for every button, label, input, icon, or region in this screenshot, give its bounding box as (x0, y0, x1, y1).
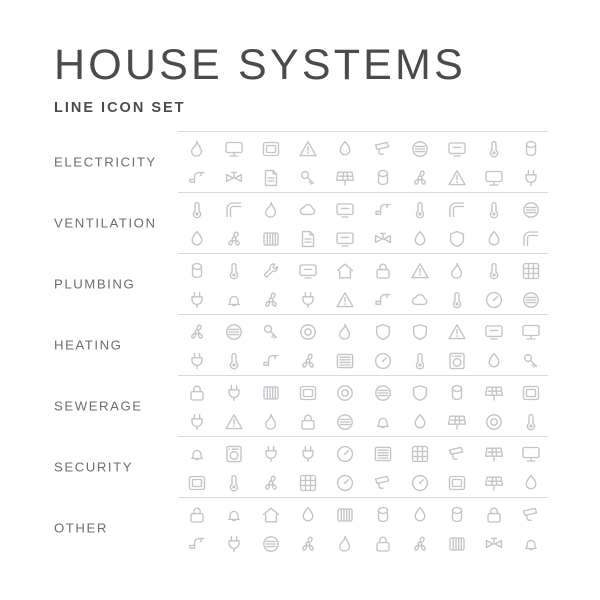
thermostat-dial-icon[interactable] (513, 348, 550, 374)
section-divider (178, 192, 548, 193)
section-security: SECURITY (0, 436, 600, 497)
smart-home-tablet-icon[interactable] (513, 502, 550, 528)
air-diffuser-grille-icon[interactable] (178, 197, 215, 223)
bent-pipe-icon[interactable] (215, 409, 252, 435)
gate-valve-icon[interactable] (401, 380, 438, 406)
fan-blades-icon[interactable] (252, 197, 289, 223)
drain-grate-icon[interactable] (476, 380, 513, 406)
water-heater-icon[interactable] (215, 258, 252, 284)
junction-box-icon[interactable] (252, 165, 289, 191)
turbine-fan-icon[interactable] (215, 226, 252, 252)
p-trap-icon[interactable] (401, 409, 438, 435)
surveillance-camera-icon[interactable] (215, 441, 252, 467)
house-heating-icon[interactable] (476, 348, 513, 374)
split-ac-icon[interactable] (327, 197, 364, 223)
plunger-tools-icon[interactable] (252, 287, 289, 313)
security-document-icon[interactable] (513, 470, 550, 496)
electric-meter-icon[interactable] (290, 136, 327, 162)
home-lock-icon[interactable] (327, 441, 364, 467)
ventilation-motor-icon[interactable] (401, 226, 438, 252)
airflow-arrows-icon[interactable] (476, 226, 513, 252)
axial-fan-icon[interactable] (290, 197, 327, 223)
break-in-alert-icon[interactable] (327, 470, 364, 496)
section-ventilation: VENTILATION (0, 192, 600, 253)
poster-header: HOUSE SYSTEMS LINE ICON SET (54, 44, 466, 116)
electrical-panel-icon[interactable] (215, 165, 252, 191)
inspection-chamber-icon[interactable] (513, 380, 550, 406)
sections-container: ELECTRICITYVENTILATIONPLUMBINGHEATINGSEW… (0, 131, 600, 558)
keypad-lock-icon[interactable] (252, 470, 289, 496)
sump-pump-icon[interactable] (438, 409, 475, 435)
underfloor-heating-icon[interactable] (364, 348, 401, 374)
ac-outdoor-unit-icon[interactable] (290, 226, 327, 252)
location-shield-icon[interactable] (513, 441, 550, 467)
water-pipes-icon[interactable] (178, 287, 215, 313)
battery-storage-icon[interactable] (513, 531, 550, 557)
vacuum-system-icon[interactable] (327, 531, 364, 557)
section-electricity: ELECTRICITY (0, 131, 600, 192)
duct-elbow-icon[interactable] (513, 197, 550, 223)
pump-station-icon[interactable] (438, 380, 475, 406)
drain-outlet-icon[interactable] (178, 380, 215, 406)
category-label-plumbing: PLUMBING (54, 276, 135, 291)
radiator-icon[interactable] (215, 319, 252, 345)
generator-icon[interactable] (401, 165, 438, 191)
manhole-cover-icon[interactable] (327, 380, 364, 406)
house-foundation-icon[interactable] (215, 531, 252, 557)
category-label-security: SECURITY (54, 459, 133, 474)
screwdriver-icon[interactable] (476, 136, 513, 162)
water-filter-icon[interactable] (401, 287, 438, 313)
electrical-toolbox-icon[interactable] (364, 136, 401, 162)
wiring-diagram-icon[interactable] (476, 165, 513, 191)
waste-pipe-icon[interactable] (252, 380, 289, 406)
pipe-coil-icon[interactable] (513, 287, 550, 313)
heat-ring-icon[interactable] (513, 319, 550, 345)
hose-coil-icon[interactable] (290, 258, 327, 284)
section-other: OTHER (0, 497, 600, 558)
section-divider (178, 314, 548, 315)
section-divider (178, 253, 548, 254)
intercom-icon[interactable] (252, 531, 289, 557)
siren-icon[interactable] (215, 470, 252, 496)
wall-boiler-icon[interactable] (252, 319, 289, 345)
ceiling-light-icon[interactable] (215, 136, 252, 162)
alarm-bell-icon[interactable] (438, 441, 475, 467)
pipe-leak-icon[interactable] (513, 258, 550, 284)
tap-water-icon[interactable] (364, 258, 401, 284)
power-plug-icon[interactable] (401, 136, 438, 162)
wall-socket-panel-icon[interactable] (438, 136, 475, 162)
control-box-icon[interactable] (215, 348, 252, 374)
water-pressure-gauge-icon[interactable] (476, 287, 513, 313)
circuit-timer-icon[interactable] (327, 136, 364, 162)
faucet-valve-icon[interactable] (252, 258, 289, 284)
icon-grid (178, 136, 550, 191)
cloud-network-icon[interactable] (476, 502, 513, 528)
section-sewerage: SEWERAGE (0, 375, 600, 436)
range-hood-icon[interactable] (327, 226, 364, 252)
fuse-box-icon[interactable] (513, 136, 550, 162)
thermostat-icon[interactable] (178, 319, 215, 345)
heat-exchanger-icon[interactable] (438, 348, 475, 374)
heating-plan-icon[interactable] (364, 319, 401, 345)
page-subtitle: LINE ICON SET (54, 100, 466, 116)
smart-hub-icon[interactable] (401, 502, 438, 528)
drain-cleaning-icon[interactable] (290, 409, 327, 435)
washing-machine-icon[interactable] (364, 287, 401, 313)
air-filter-cartridge-icon[interactable] (178, 226, 215, 252)
convector-icon[interactable] (290, 348, 327, 374)
garage-door-icon[interactable] (290, 441, 327, 467)
exhaust-hood-icon[interactable] (364, 197, 401, 223)
oil-radiator-icon[interactable] (327, 348, 364, 374)
boiler-unit-icon[interactable] (178, 348, 215, 374)
bathtub-icon[interactable] (327, 258, 364, 284)
siphon-trap-icon[interactable] (327, 409, 364, 435)
towel-radiator-icon[interactable] (476, 258, 513, 284)
alarm-panel-icon[interactable] (178, 441, 215, 467)
wastewater-icon[interactable] (178, 409, 215, 435)
section-plumbing: PLUMBING (0, 253, 600, 314)
expansion-tank-icon[interactable] (290, 319, 327, 345)
window-shutter-icon[interactable] (290, 502, 327, 528)
heat-lamp-icon[interactable] (252, 348, 289, 374)
section-divider (178, 375, 548, 376)
dome-camera-icon[interactable] (252, 441, 289, 467)
three-circle-fan-icon[interactable] (438, 226, 475, 252)
power-strip-icon[interactable] (178, 136, 215, 162)
transformer-grid-icon[interactable] (364, 165, 401, 191)
flame-icon[interactable] (401, 319, 438, 345)
blower-fan-icon[interactable] (476, 197, 513, 223)
motion-sensor-icon[interactable] (364, 441, 401, 467)
sewer-manhole-icon[interactable] (364, 409, 401, 435)
smart-thermostat-icon[interactable] (438, 531, 475, 557)
heating-distributor-icon[interactable] (401, 348, 438, 374)
fuel-pump-icon[interactable] (438, 502, 475, 528)
septic-tank-icon[interactable] (290, 380, 327, 406)
asteroid-sensor-icon[interactable] (290, 531, 327, 557)
duct-grille-icon[interactable] (513, 226, 550, 252)
icon-set-poster: HOUSE SYSTEMS LINE ICON SET ELECTRICITYV… (0, 0, 600, 600)
heat-valve-icon[interactable] (327, 319, 364, 345)
pipe-wrench-icon[interactable] (438, 287, 475, 313)
icon-grid (178, 258, 550, 313)
breaker-unit-icon[interactable] (327, 165, 364, 191)
pest-control-icon[interactable] (215, 502, 252, 528)
wifi-router-icon[interactable] (401, 531, 438, 557)
floor-heater-icon[interactable] (438, 319, 475, 345)
wall-vent-panel-icon[interactable] (438, 197, 475, 223)
icon-grid (178, 319, 550, 374)
sewer-hatch-icon[interactable] (364, 380, 401, 406)
water-pump-icon[interactable] (290, 287, 327, 313)
security-monitor-icon[interactable] (476, 441, 513, 467)
round-vent-icon[interactable] (364, 226, 401, 252)
drain-spiral-icon[interactable] (513, 409, 550, 435)
flexible-hose-icon[interactable] (476, 409, 513, 435)
section-heating: HEATING (0, 314, 600, 375)
electric-hazard-icon[interactable] (438, 165, 475, 191)
burglar-mask-icon[interactable] (401, 470, 438, 496)
window-blinds-vent-icon[interactable] (401, 197, 438, 223)
icon-grid (178, 197, 550, 252)
category-label-heating: HEATING (54, 337, 123, 352)
secure-door-icon[interactable] (401, 441, 438, 467)
section-divider (178, 497, 548, 498)
cloud-drain-icon[interactable] (178, 531, 215, 557)
page-title: HOUSE SYSTEMS (54, 44, 466, 87)
toilet-icon[interactable] (327, 287, 364, 313)
security-guard-icon[interactable] (290, 470, 327, 496)
dimmer-switch-icon[interactable] (290, 165, 327, 191)
washer-dryer-icon[interactable] (364, 502, 401, 528)
keys-icon[interactable] (476, 470, 513, 496)
shower-icon[interactable] (401, 258, 438, 284)
access-control-icon[interactable] (364, 470, 401, 496)
icon-grid (178, 502, 550, 557)
voltage-tester-icon[interactable] (513, 165, 550, 191)
switch-box-icon[interactable] (252, 136, 289, 162)
box-fan-icon[interactable] (252, 226, 289, 252)
category-label-electricity: ELECTRICITY (54, 154, 157, 169)
section-divider (178, 436, 548, 437)
section-divider (178, 131, 548, 132)
icon-grid (178, 441, 550, 496)
category-label-sewerage: SEWERAGE (54, 398, 143, 413)
solar-grid-icon[interactable] (178, 165, 215, 191)
double-sink-icon[interactable] (438, 258, 475, 284)
category-label-ventilation: VENTILATION (54, 215, 157, 230)
water-dispenser-icon[interactable] (327, 502, 364, 528)
icon-grid (178, 380, 550, 435)
category-label-other: OTHER (54, 520, 108, 535)
sewer-shaft-icon[interactable] (252, 409, 289, 435)
coffee-machine-icon[interactable] (252, 502, 289, 528)
pipe-fitting-icon[interactable] (178, 258, 215, 284)
window-sensor-icon[interactable] (438, 470, 475, 496)
floor-drain-icon[interactable] (215, 380, 252, 406)
funnel-drain-icon[interactable] (215, 287, 252, 313)
ceiling-vent-icon[interactable] (215, 197, 252, 223)
smoke-sprinkler-icon[interactable] (178, 502, 215, 528)
intruder-alert-icon[interactable] (178, 470, 215, 496)
smart-tv-icon[interactable] (364, 531, 401, 557)
solar-panel-icon[interactable] (476, 531, 513, 557)
pressure-gauge-icon[interactable] (476, 319, 513, 345)
